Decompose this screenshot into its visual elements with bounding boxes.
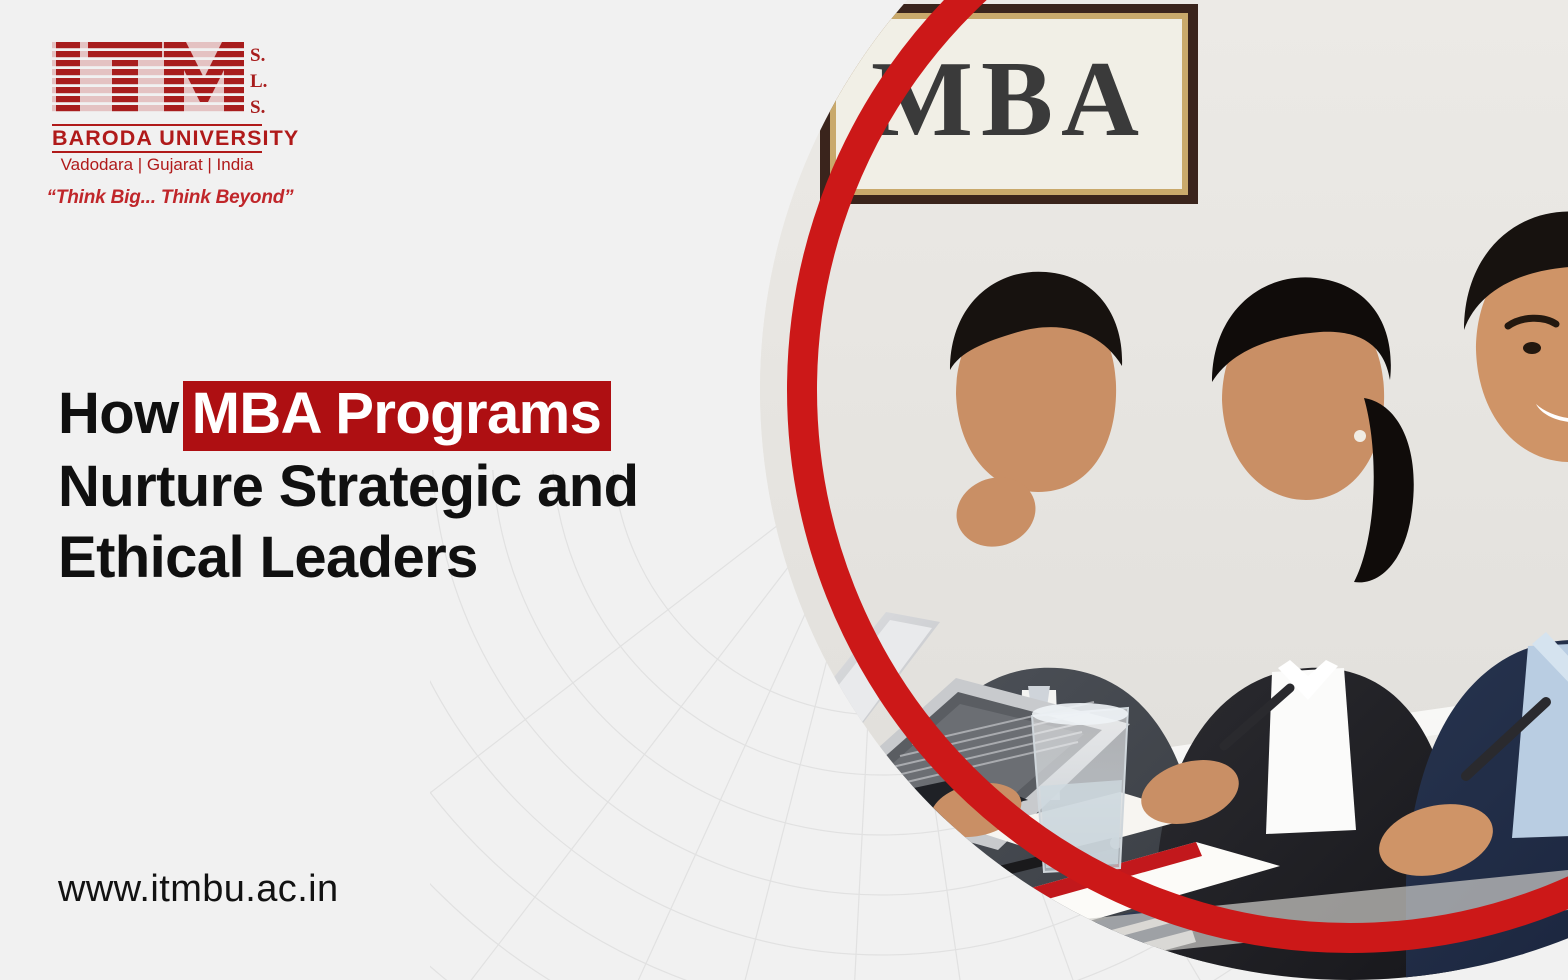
headline-highlight: MBA Programs (183, 381, 612, 451)
logo-letter-l: L. (250, 71, 267, 92)
brand-tagline: “Think Big... Think Beyond” (46, 175, 294, 209)
conference-room-scene: MBA (760, 0, 1568, 980)
headline-prefix: How (58, 381, 179, 446)
logo-divider-group: BARODA UNIVERSITY Vadodara | Gujarat | I… (52, 124, 262, 175)
logo-letter-s2: S. (250, 97, 265, 118)
logo-letter-s1: S. (250, 45, 265, 66)
svg-text:MBA: MBA (871, 40, 1147, 159)
headline-line-1: HowMBA Programs (58, 378, 738, 451)
university-location: Vadodara | Gujarat | India (52, 153, 262, 175)
university-name: BARODA UNIVERSITY (52, 126, 262, 151)
hero-photo: MBA (760, 0, 1568, 980)
page-title: HowMBA Programs Nurture Strategic and Et… (58, 378, 738, 593)
website-url[interactable]: www.itmbu.ac.in (58, 868, 339, 911)
headline-line-2: Nurture Strategic and (58, 451, 738, 522)
framed-mba-sign: MBA (820, 4, 1198, 204)
itm-logo-mark: S. L. S. (52, 40, 272, 122)
brand-logo: S. L. S. BARODA UNIVERSITY Vadodara | Gu… (52, 40, 292, 209)
hero-photo-clip: MBA (760, 0, 1568, 980)
banner-root: MBA (0, 0, 1568, 980)
headline-line-3: Ethical Leaders (58, 522, 738, 593)
itm-striped-letters-icon: S. L. S. (52, 40, 272, 122)
